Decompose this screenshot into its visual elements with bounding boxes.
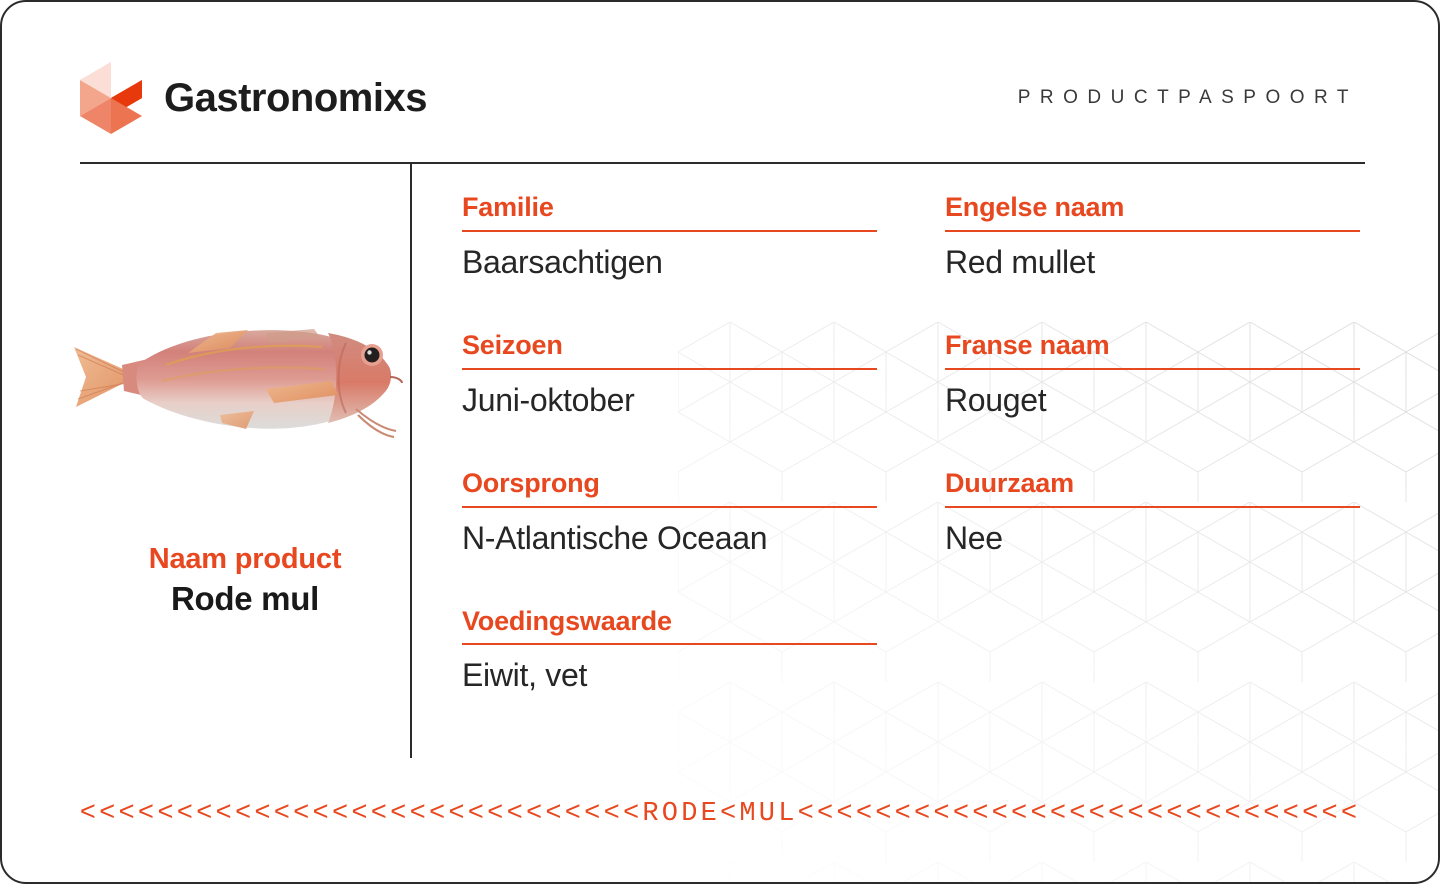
header-divider [80, 162, 1365, 164]
brand-lockup: Gastronomixs [80, 62, 427, 134]
field-engelse-naam: Engelse naam Red mullet [945, 192, 1360, 330]
field-underline [945, 368, 1360, 370]
field-familie: Familie Baarsachtigen [462, 192, 877, 330]
field-value-oorsprong: N-Atlantische Oceaan [462, 518, 877, 606]
field-voedingswaarde: Voedingswaarde Eiwit, vet [462, 606, 877, 744]
field-label-seizoen: Seizoen [462, 330, 877, 368]
field-label-duurzaam: Duurzaam [945, 468, 1360, 506]
machine-readable-zone: <<<<<<<<<<<<<<<<<<<<<<<<<<<<<RODE<MUL<<<… [80, 794, 1360, 834]
field-underline [462, 230, 877, 232]
product-panel: Naam product Rode mul [80, 172, 410, 752]
field-label-voedingswaarde: Voedingswaarde [462, 606, 877, 644]
field-value-seizoen: Juni-oktober [462, 380, 877, 468]
field-underline [945, 230, 1360, 232]
field-oorsprong: Oorsprong N-Atlantische Oceaan [462, 468, 877, 606]
field-value-duurzaam: Nee [945, 518, 1360, 606]
product-name-label: Naam product [149, 541, 342, 577]
field-underline [462, 368, 877, 370]
field-duurzaam: Duurzaam Nee [945, 468, 1360, 606]
field-label-oorsprong: Oorsprong [462, 468, 877, 506]
red-mullet-fish-photo-icon [70, 303, 410, 453]
brand-name: Gastronomixs [164, 76, 427, 121]
product-passport-card: Gastronomixs PRODUCTPASPOORT [0, 0, 1440, 884]
product-meta: Naam product Rode mul [149, 541, 342, 620]
field-value-voedingswaarde: Eiwit, vet [462, 655, 877, 743]
passport-field-grid: Familie Baarsachtigen Engelse naam Red m… [462, 192, 1367, 743]
field-value-engelse-naam: Red mullet [945, 242, 1360, 330]
field-value-familie: Baarsachtigen [462, 242, 877, 330]
column-divider [410, 164, 412, 758]
card-header: Gastronomixs PRODUCTPASPOORT [80, 54, 1360, 142]
field-label-franse-naam: Franse naam [945, 330, 1360, 368]
field-value-franse-naam: Rouget [945, 380, 1360, 468]
product-name-value: Rode mul [149, 578, 342, 621]
field-underline [462, 643, 877, 645]
field-underline [945, 506, 1360, 508]
field-franse-naam: Franse naam Rouget [945, 330, 1360, 468]
gastronomixs-cube-logo-icon [80, 62, 142, 134]
field-underline [462, 506, 877, 508]
passport-label: PRODUCTPASPOORT [1018, 87, 1360, 109]
field-seizoen: Seizoen Juni-oktober [462, 330, 877, 468]
field-label-engelse-naam: Engelse naam [945, 192, 1360, 230]
field-label-familie: Familie [462, 192, 877, 230]
